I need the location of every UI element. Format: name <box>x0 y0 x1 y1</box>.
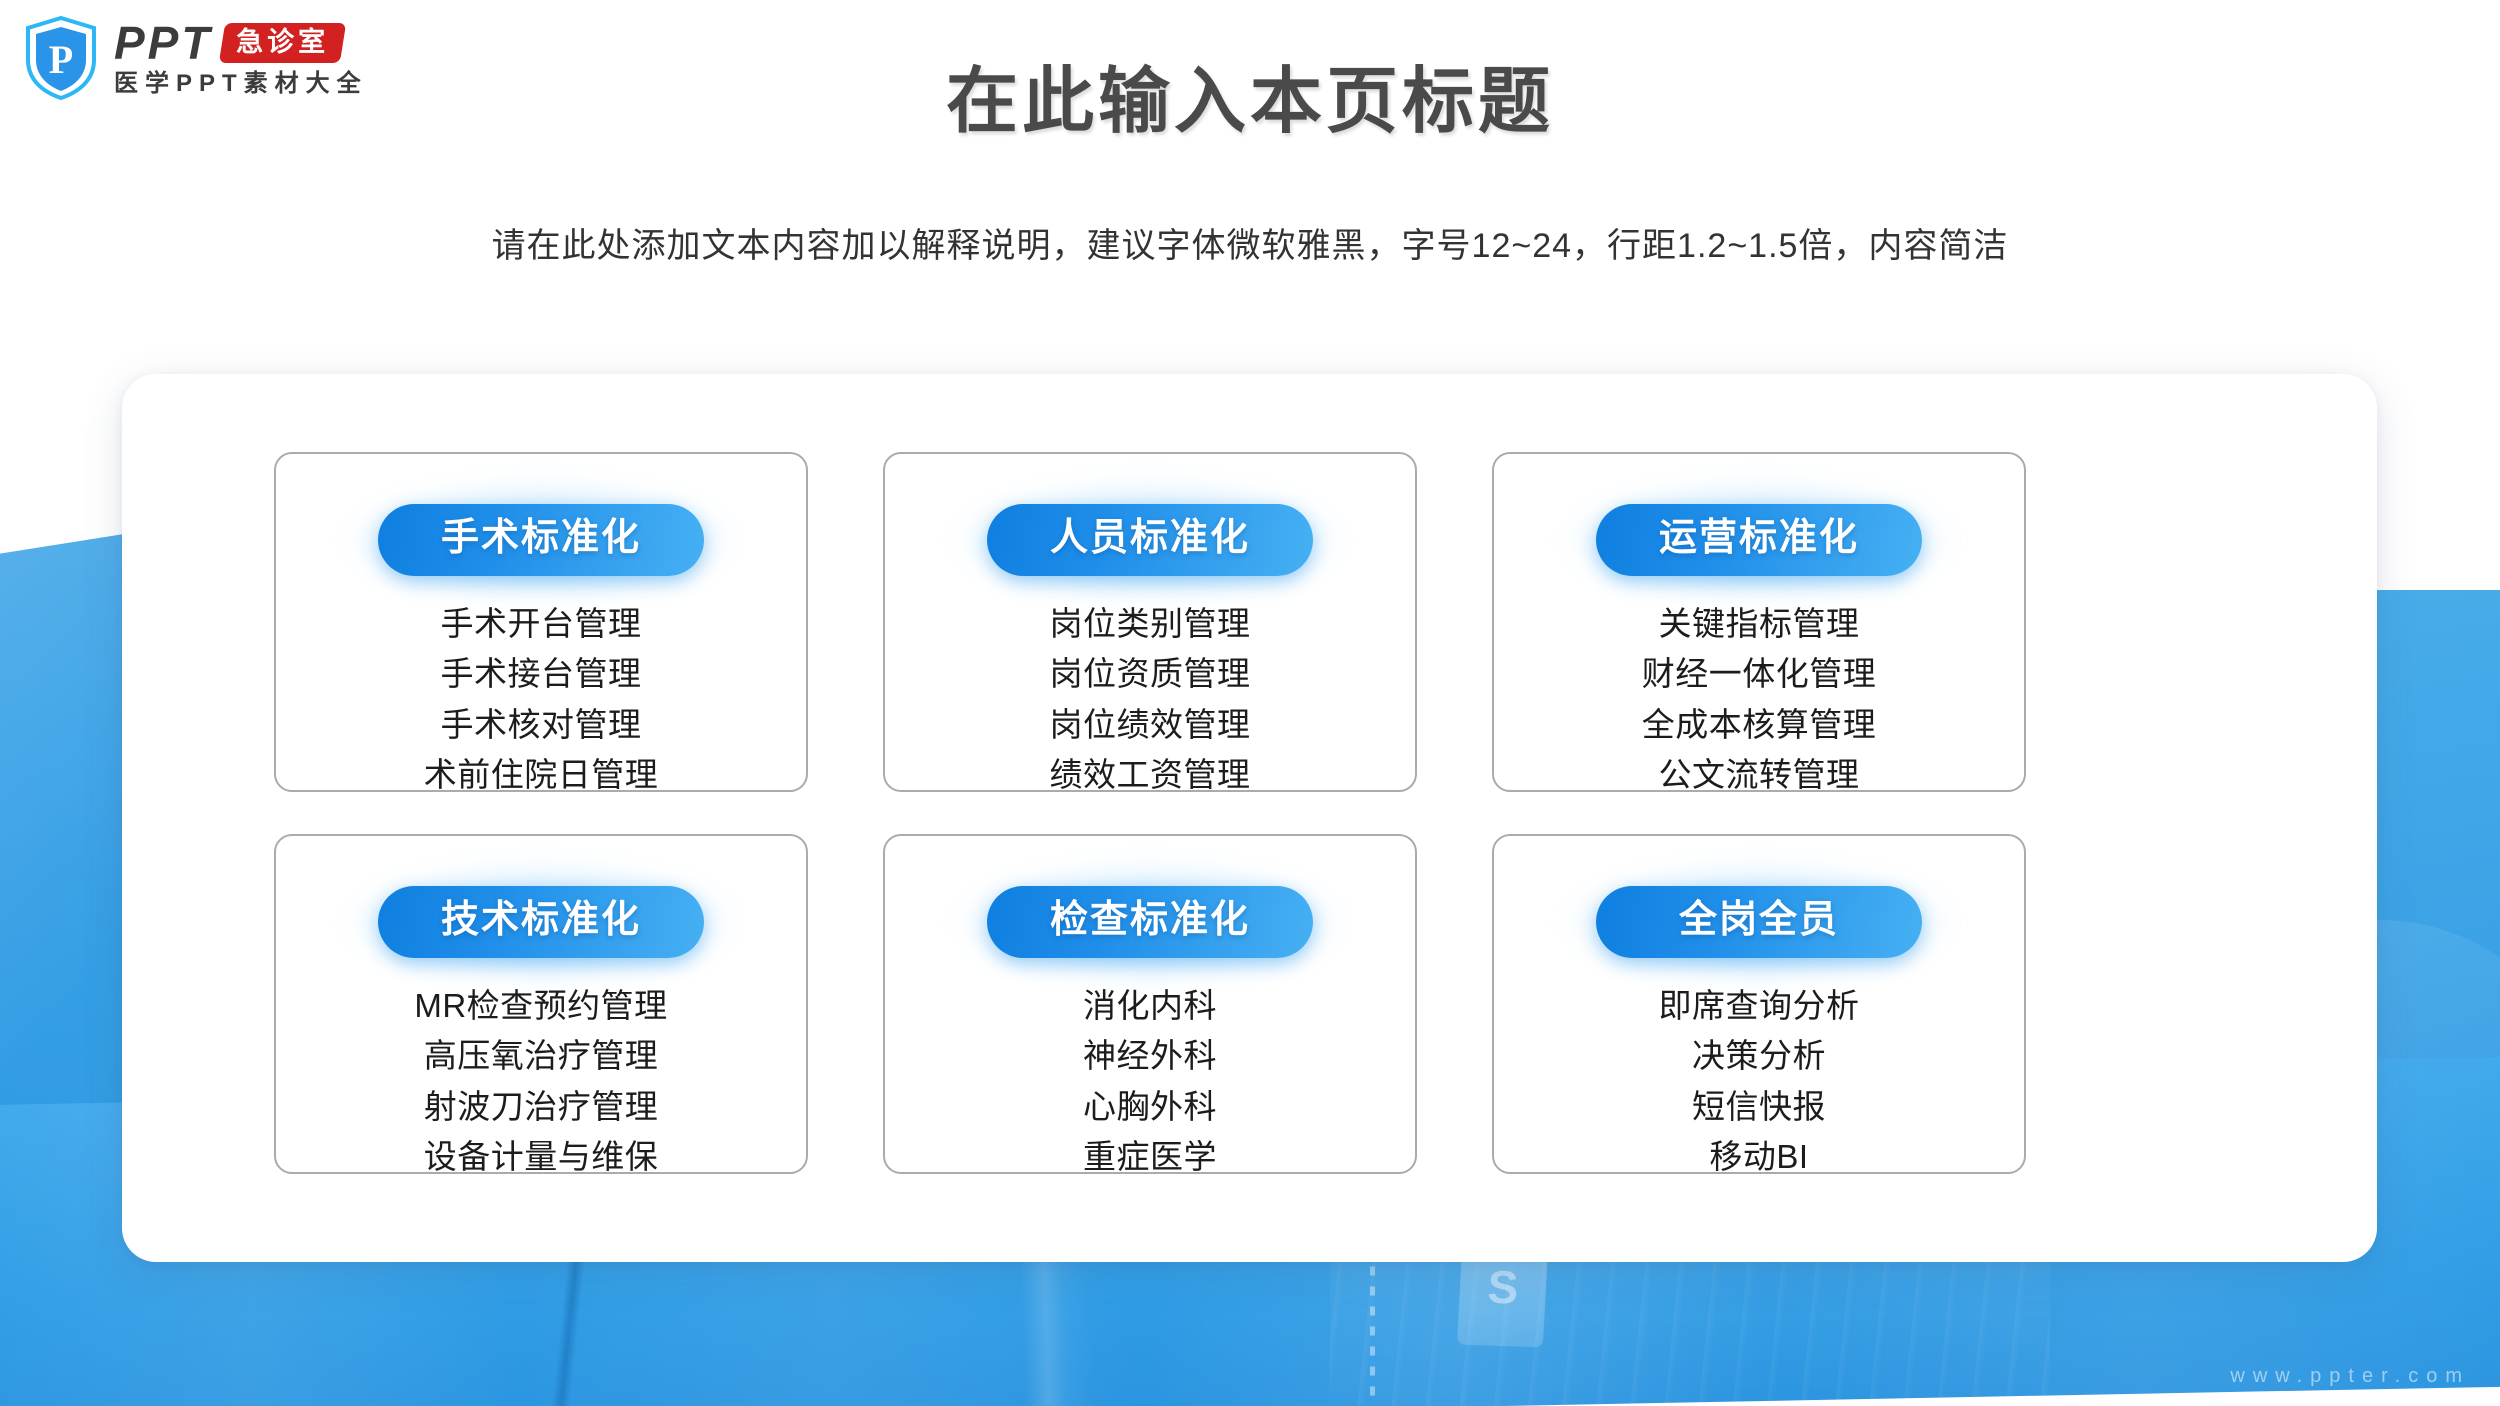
card-title-badge-wrap: 技术标准化 <box>378 886 704 958</box>
card-title-badge: 检查标准化 <box>987 886 1313 958</box>
list-item: 消化内科 <box>1083 984 1217 1028</box>
card-title-badge: 手术标准化 <box>378 504 704 576</box>
card-item-list: 手术开台管理 手术接台管理 手术核对管理 术前住院日管理 <box>424 602 659 797</box>
list-item: 岗位绩效管理 <box>1050 703 1251 747</box>
list-item: 财经一体化管理 <box>1642 652 1877 696</box>
card-technology-standardization[interactable]: 技术标准化 MR检查预约管理 高压氧治疗管理 射波刀治疗管理 设备计量与维保 <box>274 834 808 1174</box>
site-watermark: www.ppter.com <box>2230 1365 2470 1388</box>
list-item: 神经外科 <box>1083 1034 1217 1078</box>
card-operations-standardization[interactable]: 运营标准化 关键指标管理 财经一体化管理 全成本核算管理 公文流转管理 <box>1492 452 2026 792</box>
list-item: 全成本核算管理 <box>1642 703 1877 747</box>
list-item: 手术核对管理 <box>441 703 642 747</box>
list-item: 手术开台管理 <box>441 602 642 646</box>
card-examination-standardization[interactable]: 检查标准化 消化内科 神经外科 心胸外科 重症医学 <box>883 834 1417 1174</box>
card-grid: 手术标准化 手术开台管理 手术接台管理 手术核对管理 术前住院日管理 人员标准化… <box>274 452 2226 1174</box>
card-item-list: 岗位类别管理 岗位资质管理 岗位绩效管理 绩效工资管理 <box>1050 602 1251 797</box>
card-title-badge: 全岗全员 <box>1596 886 1922 958</box>
list-item: 重症医学 <box>1083 1135 1217 1179</box>
card-surgery-standardization[interactable]: 手术标准化 手术开台管理 手术接台管理 手术核对管理 术前住院日管理 <box>274 452 808 792</box>
list-item: 射波刀治疗管理 <box>424 1085 659 1129</box>
card-item-list: 关键指标管理 财经一体化管理 全成本核算管理 公文流转管理 <box>1642 602 1877 797</box>
list-item: MR检查预约管理 <box>414 984 667 1028</box>
list-item: 绩效工资管理 <box>1050 753 1251 797</box>
card-item-list: 消化内科 神经外科 心胸外科 重症医学 <box>1083 984 1217 1179</box>
list-item: 即席查询分析 <box>1659 984 1860 1028</box>
list-item: 心胸外科 <box>1083 1085 1217 1129</box>
card-title-badge-wrap: 全岗全员 <box>1596 886 1922 958</box>
slide-canvas: S www.ppter.com P PPT 急诊室 医学PPT素材大全 在此输入… <box>0 0 2500 1406</box>
card-all-posts-all-staff[interactable]: 全岗全员 即席查询分析 决策分析 短信快报 移动BI <box>1492 834 2026 1174</box>
list-item: 关键指标管理 <box>1659 602 1860 646</box>
card-title-badge-wrap: 运营标准化 <box>1596 504 1922 576</box>
list-item: 公文流转管理 <box>1659 753 1860 797</box>
page-subtitle: 请在此处添加文本内容加以解释说明，建议字体微软雅黑，字号12~24，行距1.2~… <box>0 218 2500 267</box>
card-item-list: 即席查询分析 决策分析 短信快报 移动BI <box>1659 984 1860 1179</box>
list-item: 岗位资质管理 <box>1050 652 1251 696</box>
page-title: 在此输入本页标题 <box>0 42 2500 147</box>
list-item: 移动BI <box>1709 1135 1808 1179</box>
list-item: 短信快报 <box>1692 1085 1826 1129</box>
list-item: 岗位类别管理 <box>1050 602 1251 646</box>
card-title-badge: 运营标准化 <box>1596 504 1922 576</box>
card-title-badge-wrap: 人员标准化 <box>987 504 1313 576</box>
list-item: 决策分析 <box>1692 1034 1826 1078</box>
card-title-badge: 技术标准化 <box>378 886 704 958</box>
list-item: 术前住院日管理 <box>424 753 659 797</box>
card-title-badge-wrap: 手术标准化 <box>378 504 704 576</box>
card-title-badge: 人员标准化 <box>987 504 1313 576</box>
card-title-badge-wrap: 检查标准化 <box>987 886 1313 958</box>
list-item: 手术接台管理 <box>441 652 642 696</box>
list-item: 高压氧治疗管理 <box>424 1034 659 1078</box>
card-item-list: MR检查预约管理 高压氧治疗管理 射波刀治疗管理 设备计量与维保 <box>414 984 667 1179</box>
card-personnel-standardization[interactable]: 人员标准化 岗位类别管理 岗位资质管理 岗位绩效管理 绩效工资管理 <box>883 452 1417 792</box>
list-item: 设备计量与维保 <box>424 1135 659 1179</box>
